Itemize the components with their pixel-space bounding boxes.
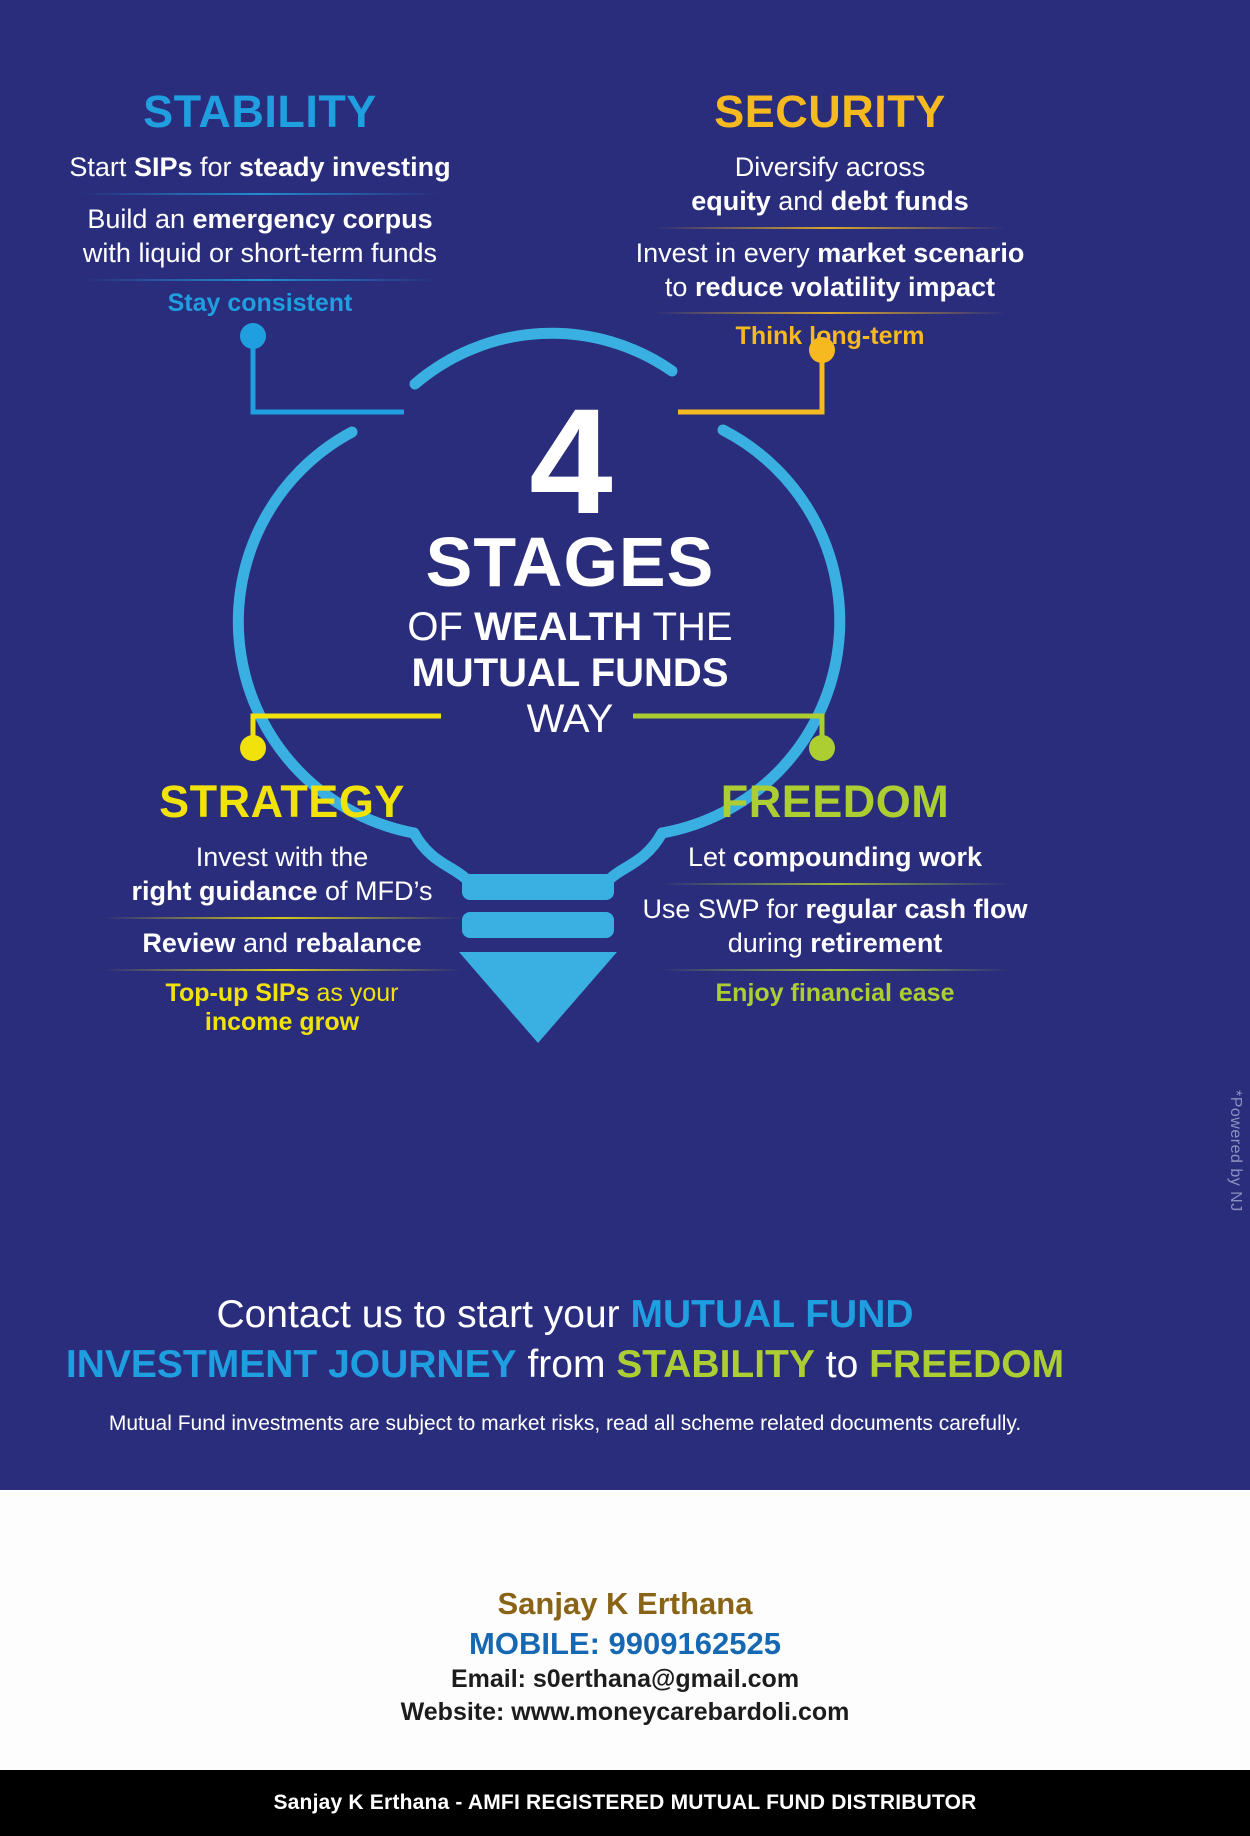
strategy-line-2: Review and rebalance: [62, 927, 502, 961]
freedom-tagline: Enjoy financial ease: [620, 979, 1050, 1008]
quadrant-stability: STABILITY Start SIPs for steady investin…: [40, 88, 480, 318]
stage-count-number: 4: [330, 400, 810, 523]
contact-details: Sanjay K Erthana MOBILE: 9909162525 Emai…: [0, 1585, 1250, 1729]
stability-line-1: Start SIPs for steady investing: [40, 151, 480, 185]
headline-line-4: MUTUAL FUNDS: [330, 650, 810, 696]
advisor-name: Sanjay K Erthana: [0, 1585, 1250, 1624]
headline-line-5: WAY: [330, 696, 810, 742]
advisor-mobile[interactable]: MOBILE: 9909162525: [0, 1624, 1250, 1664]
freedom-divider-1: [659, 883, 1012, 885]
security-title: SECURITY: [615, 88, 1045, 135]
stages-word: STAGES: [330, 527, 810, 598]
advisor-website[interactable]: Website: www.moneycarebardoli.com: [0, 1696, 1250, 1729]
strategy-tagline: Top-up SIPs as yourincome grow: [62, 979, 502, 1037]
stability-tagline: Stay consistent: [40, 289, 480, 318]
headline-line-3: OF WEALTH THE: [330, 604, 810, 650]
strategy-title: STRATEGY: [62, 778, 502, 825]
freedom-line-2: Use SWP for regular cash flowduring reti…: [620, 893, 1050, 961]
cta-line-1: Contact us to start your MUTUAL FUND: [60, 1290, 1070, 1340]
risk-disclaimer: Mutual Fund investments are subject to m…: [40, 1412, 1090, 1436]
powered-by-label: *Powered by NJ: [1220, 1090, 1244, 1212]
stability-divider-2: [80, 279, 441, 281]
infographic-poster: STABILITY Start SIPs for steady investin…: [0, 0, 1250, 1836]
security-line-1: Diversify acrossequity and debt funds: [615, 151, 1045, 219]
stability-divider-1: [80, 193, 441, 195]
advisor-email[interactable]: Email: s0erthana@gmail.com: [0, 1663, 1250, 1696]
security-divider-1: [654, 227, 1007, 229]
security-divider-2: [654, 312, 1007, 314]
cta-line-2: INVESTMENT JOURNEY from STABILITY to FRE…: [60, 1340, 1070, 1390]
strategy-divider-2: [102, 969, 463, 971]
security-tagline: Think long-term: [615, 322, 1045, 351]
quadrant-strategy: STRATEGY Invest with theright guidance o…: [62, 778, 502, 1037]
freedom-line-1: Let compounding work: [620, 841, 1050, 875]
footer-registration-bar: Sanjay K Erthana - AMFI REGISTERED MUTUA…: [0, 1770, 1250, 1836]
freedom-title: FREEDOM: [620, 778, 1050, 825]
freedom-divider-2: [659, 969, 1012, 971]
stability-line-2: Build an emergency corpuswith liquid or …: [40, 203, 480, 271]
strategy-line-1: Invest with theright guidance of MFD’s: [62, 841, 502, 909]
stability-title: STABILITY: [40, 88, 480, 135]
call-to-action: Contact us to start your MUTUAL FUND INV…: [60, 1290, 1070, 1390]
strategy-divider-1: [102, 917, 463, 919]
security-line-2: Invest in every market scenarioto reduce…: [615, 237, 1045, 305]
center-headline: 4 STAGES OF WEALTH THE MUTUAL FUNDS WAY: [330, 400, 810, 742]
quadrant-freedom: FREEDOM Let compounding work Use SWP for…: [620, 778, 1050, 1008]
quadrant-security: SECURITY Diversify acrossequity and debt…: [615, 88, 1045, 351]
